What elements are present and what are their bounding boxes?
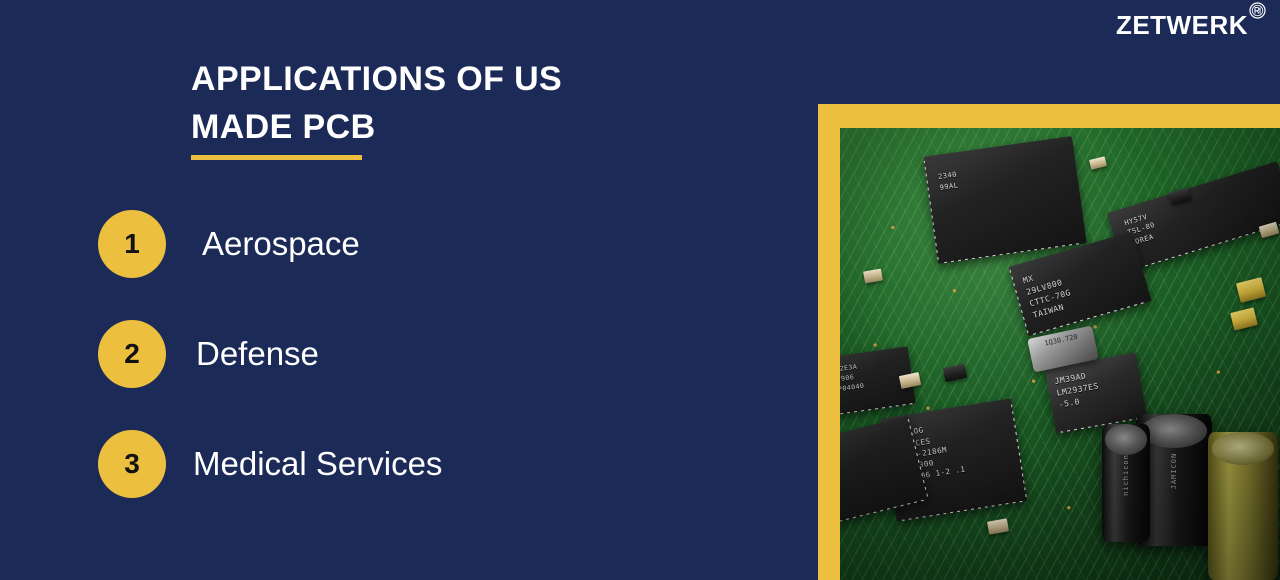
left-edge-chip-text: V32E3A AF906 UP04040 bbox=[840, 362, 865, 395]
title-underline-rule bbox=[191, 155, 362, 160]
gold-capacitor bbox=[1208, 432, 1278, 580]
crystal-oscillator-text: 1Q30.720 bbox=[1044, 333, 1079, 348]
pcb-photo: 2340 99AL HY57V TSL-80 KOREA MX 29LV800 … bbox=[840, 128, 1280, 580]
voltage-regulator-text: JM39AD LM2937ES -5.0 bbox=[1054, 369, 1102, 412]
list-item-label: Aerospace bbox=[202, 226, 360, 262]
list-item-label: Defense bbox=[196, 336, 319, 372]
slide-root: ZETWERK APPLICATIONS OF US MADE PCB 1 Ae… bbox=[0, 0, 1280, 580]
capacitor-1-label: JAMICON bbox=[1170, 433, 1178, 509]
mx-flash-chip-text: MX 29LV800 CTTC-70G TAIWAN bbox=[1022, 264, 1076, 322]
title-line-1: APPLICATIONS OF US bbox=[191, 55, 751, 103]
brand-logo: ZETWERK bbox=[1116, 12, 1266, 38]
badge-number: 2 bbox=[124, 340, 140, 368]
brand-name: ZETWERK bbox=[1116, 12, 1248, 38]
list-item-number-badge: 2 bbox=[98, 320, 166, 388]
applications-list: 1 Aerospace 2 Defense 3 Medical Services bbox=[98, 210, 798, 498]
title-line-2: MADE PCB bbox=[191, 103, 751, 151]
qfp-chip-top-text: 2340 99AL bbox=[938, 170, 960, 193]
list-item: 2 Defense bbox=[98, 320, 798, 388]
list-item: 3 Medical Services bbox=[98, 430, 798, 498]
list-item-number-badge: 1 bbox=[98, 210, 166, 278]
list-item-number-badge: 3 bbox=[98, 430, 166, 498]
qfp-chip-top: 2340 99AL bbox=[923, 136, 1087, 264]
electrolytic-capacitor-2: nichicon bbox=[1102, 424, 1150, 542]
list-item: 1 Aerospace bbox=[98, 210, 798, 278]
registered-circle-logo-icon bbox=[1249, 2, 1266, 19]
badge-number: 3 bbox=[124, 450, 140, 478]
capacitor-2-label: nichicon bbox=[1122, 451, 1130, 499]
list-item-label: Medical Services bbox=[193, 446, 442, 482]
pcb-photo-frame: 2340 99AL HY57V TSL-80 KOREA MX 29LV800 … bbox=[818, 104, 1280, 580]
badge-number: 1 bbox=[124, 230, 140, 258]
page-title: APPLICATIONS OF US MADE PCB bbox=[191, 55, 751, 160]
